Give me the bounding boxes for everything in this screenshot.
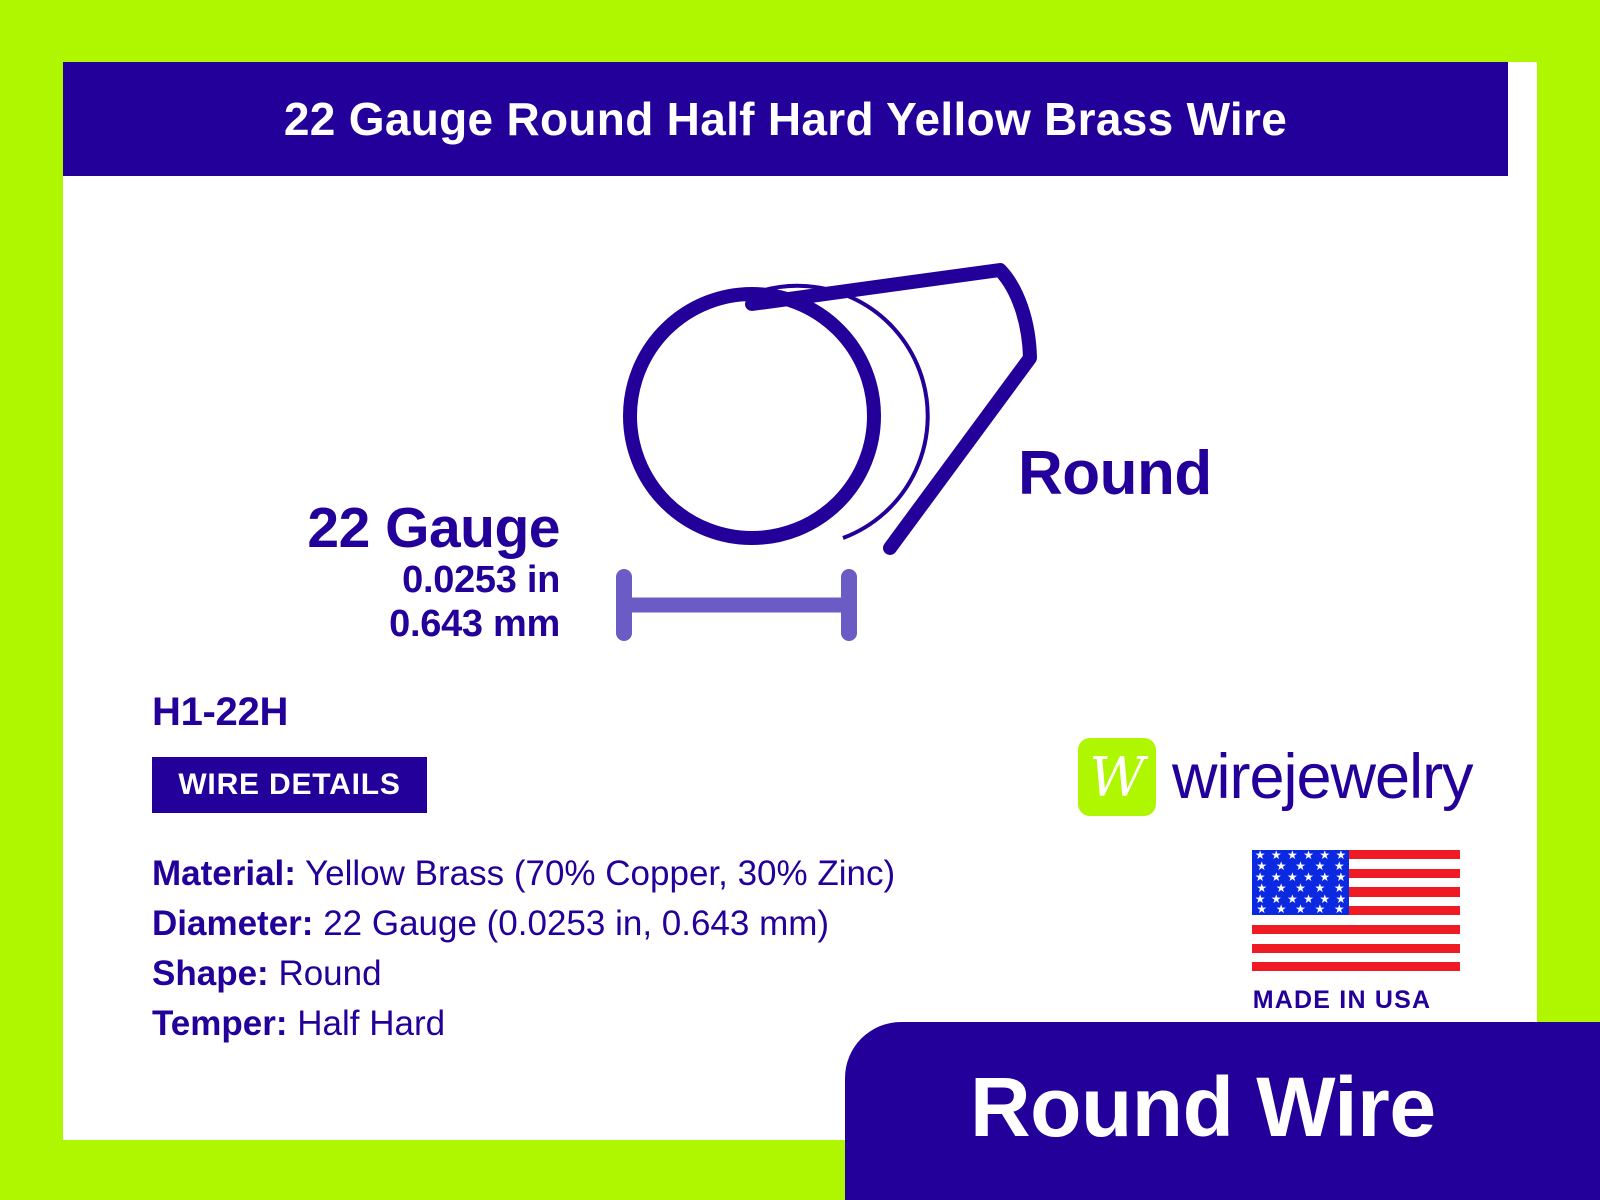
gauge-inches-value: 0.0253 in [180, 558, 560, 602]
spec-label-diameter: Diameter: [152, 904, 313, 943]
width-dimension-indicator [612, 565, 882, 645]
gauge-summary-block: 22 Gauge 0.0253 in 0.643 mm [180, 498, 560, 646]
header-bar: 22 Gauge Round Half Hard Yellow Brass Wi… [63, 62, 1508, 176]
spec-label-material: Material: [152, 854, 296, 893]
brand-logo: W wirejewelry [1078, 738, 1473, 816]
product-info-card-page: 22 Gauge Round Half Hard Yellow Brass Wi… [0, 0, 1600, 1200]
wire-details-badge: WIRE DETAILS [152, 757, 427, 813]
spec-row-temper: Temper: Half Hard [152, 999, 895, 1049]
shape-label: Round [1018, 438, 1212, 509]
spec-value-diameter: 22 Gauge (0.0253 in, 0.643 mm) [323, 904, 829, 943]
spec-value-shape: Round [278, 954, 381, 993]
made-in-usa-label: MADE IN USA [1222, 986, 1462, 1015]
brand-mark-glyph: W [1078, 738, 1156, 816]
bottom-banner-label: Round Wire [845, 1022, 1600, 1192]
round-wire-cylinder-illustration [600, 248, 1070, 568]
wirejewelry-w-mark-icon: W [1078, 738, 1156, 816]
spec-value-material: Yellow Brass (70% Copper, 30% Zinc) [305, 854, 895, 893]
spec-row-diameter: Diameter: 22 Gauge (0.0253 in, 0.643 mm) [152, 899, 895, 949]
sku-code: H1-22H [152, 690, 288, 735]
spec-value-temper: Half Hard [297, 1004, 445, 1043]
spec-row-material: Material: Yellow Brass (70% Copper, 30% … [152, 849, 895, 899]
gauge-primary-value: 22 Gauge [180, 498, 560, 558]
brand-wordmark: wirejewelry [1172, 742, 1473, 812]
gauge-millimeters-value: 0.643 mm [180, 602, 560, 646]
bottom-banner: Round Wire [845, 1022, 1600, 1200]
made-in-usa-block: ★★★★★★ ★★★★★ ★★★★★★ ★★★★★ ★★★★★★ ★★★★★ M… [1222, 824, 1462, 1015]
usa-flag-icon: ★★★★★★ ★★★★★ ★★★★★★ ★★★★★ ★★★★★★ ★★★★★ [1252, 850, 1460, 972]
spec-label-temper: Temper: [152, 1004, 288, 1043]
spec-label-shape: Shape: [152, 954, 269, 993]
page-title: 22 Gauge Round Half Hard Yellow Brass Wi… [63, 62, 1508, 176]
wire-details-list: Material: Yellow Brass (70% Copper, 30% … [152, 849, 895, 1049]
spec-row-shape: Shape: Round [152, 949, 895, 999]
flag-canton: ★★★★★★ ★★★★★ ★★★★★★ ★★★★★ ★★★★★★ ★★★★★ [1252, 850, 1349, 915]
wire-details-badge-label: WIRE DETAILS [152, 757, 427, 813]
